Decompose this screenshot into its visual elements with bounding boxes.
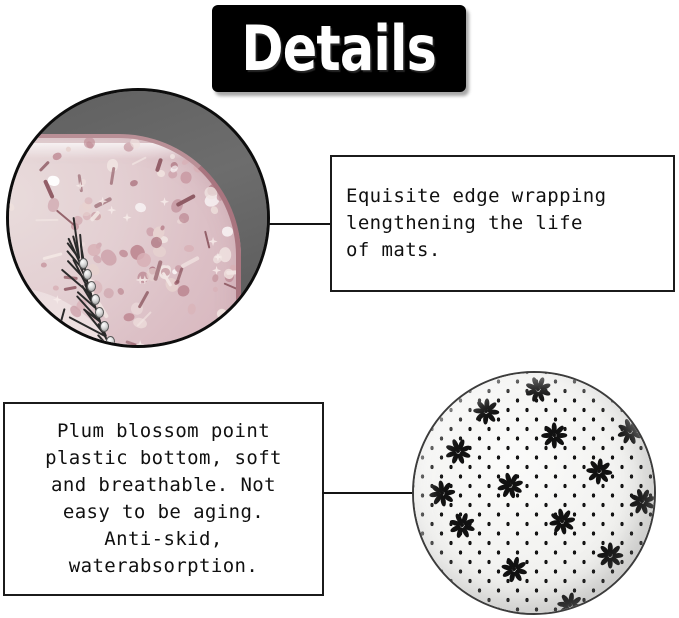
edge-wrapping-photo: [6, 88, 270, 348]
callout-plastic-bottom: Plum blossom point plastic bottom, soft …: [3, 402, 324, 596]
plastic-shading: [414, 373, 654, 613]
connector-edge-wrapping: [268, 223, 332, 225]
plastic-bottom-photo: [412, 371, 656, 615]
connector-plastic-bottom: [322, 492, 414, 494]
details-infographic: Details Equisite edge wrapping lengtheni…: [0, 0, 679, 618]
page-title: Details: [242, 18, 437, 80]
callout-edge-wrapping-text: Equisite edge wrapping lengthening the l…: [346, 183, 606, 264]
callout-edge-wrapping: Equisite edge wrapping lengthening the l…: [330, 155, 675, 292]
callout-plastic-bottom-text: Plum blossom point plastic bottom, soft …: [45, 418, 282, 580]
details-title-banner: Details: [212, 5, 466, 92]
